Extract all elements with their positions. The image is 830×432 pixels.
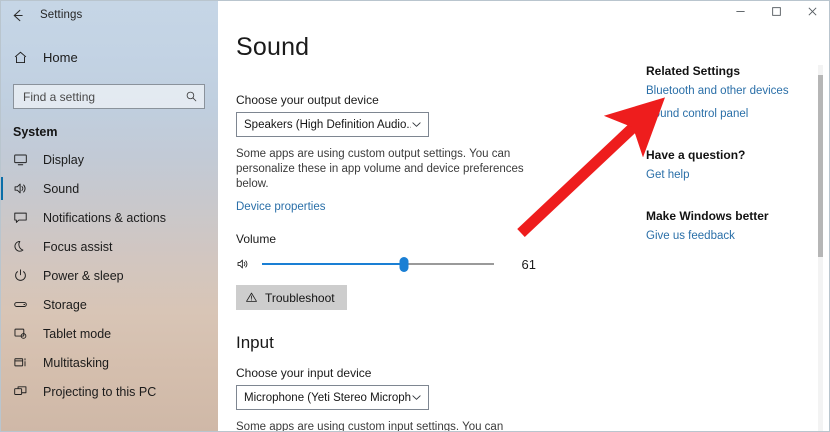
sidebar-item-label: Display [43,153,84,167]
volume-slider-row: 61 [236,256,536,272]
projecting-icon [13,384,35,399]
scrollbar-thumb[interactable] [818,75,823,257]
search-input[interactable] [23,90,185,104]
input-device-label: Choose your input device [236,366,566,380]
app-title: Settings [40,9,82,21]
sidebar-item-label: Sound [43,182,79,196]
power-icon [13,268,35,283]
sidebar-item-multitasking[interactable]: Multitasking [0,348,218,377]
output-device-value: Speakers (High Definition Audio... [244,119,411,131]
moon-icon [13,239,35,254]
sidebar-item-label: Notifications & actions [43,211,166,225]
settings-column: Choose your output device Speakers (High… [236,93,566,432]
monitor-icon [13,152,35,167]
warning-triangle-icon [245,291,258,304]
related-settings-panel: Related Settings Bluetooth and other dev… [646,64,821,253]
maximize-button[interactable] [758,0,794,22]
feedback-header: Make Windows better [646,209,821,223]
settings-window: Settings Home System [0,0,830,432]
sidebar: Settings Home System [0,0,218,432]
input-description: Some apps are using custom input setting… [236,420,536,432]
troubleshoot-label: Troubleshoot [265,291,335,305]
output-device-label: Choose your output device [236,93,566,107]
sidebar-nav-list: Display Sound Notifica [0,145,218,406]
device-properties-link[interactable]: Device properties [236,201,325,213]
sidebar-titlebar: Settings [0,0,218,30]
back-arrow-icon[interactable] [0,0,34,30]
chevron-down-icon [411,392,422,403]
volume-label: Volume [236,232,566,246]
input-device-value: Microphone (Yeti Stereo Microph... [244,392,411,404]
sidebar-home-label: Home [43,50,78,65]
troubleshoot-button[interactable]: Troubleshoot [236,285,347,310]
output-description: Some apps are using custom output settin… [236,147,536,192]
speaker-icon [13,181,35,196]
bluetooth-devices-link[interactable]: Bluetooth and other devices [646,85,821,97]
sidebar-item-tablet-mode[interactable]: Tablet mode [0,319,218,348]
sidebar-item-label: Focus assist [43,240,112,254]
sidebar-item-focus-assist[interactable]: Focus assist [0,232,218,261]
search-box[interactable] [13,84,205,109]
sidebar-item-home[interactable]: Home [0,42,218,72]
give-feedback-link[interactable]: Give us feedback [646,230,821,242]
multitasking-icon [13,355,35,370]
sidebar-item-power-sleep[interactable]: Power & sleep [0,261,218,290]
sound-control-panel-link[interactable]: Sound control panel [646,108,821,120]
sidebar-item-label: Storage [43,298,87,312]
sidebar-group-header: System [0,125,218,139]
notification-icon [13,210,35,225]
search-icon [185,90,198,103]
sidebar-item-label: Power & sleep [43,269,124,283]
input-section-heading: Input [236,333,566,353]
sidebar-item-display[interactable]: Display [0,145,218,174]
sidebar-item-notifications[interactable]: Notifications & actions [0,203,218,232]
get-help-link[interactable]: Get help [646,169,821,181]
slider-thumb[interactable] [399,257,408,272]
minimize-button[interactable] [722,0,758,22]
sidebar-item-storage[interactable]: Storage [0,290,218,319]
chevron-down-icon [411,119,422,130]
tablet-icon [13,326,35,341]
volume-slider[interactable] [262,256,494,272]
sidebar-item-sound[interactable]: Sound [0,174,218,203]
window-titlebar [222,0,830,31]
sidebar-item-label: Tablet mode [43,327,111,341]
main-pane: Sound Choose your output device Speakers… [222,0,830,432]
main-content: Sound Choose your output device Speakers… [222,31,830,432]
input-device-dropdown[interactable]: Microphone (Yeti Stereo Microph... [236,385,429,410]
home-icon [13,50,35,65]
speaker-volume-icon[interactable] [236,257,256,271]
output-device-dropdown[interactable]: Speakers (High Definition Audio... [236,112,429,137]
related-settings-header: Related Settings [646,64,821,78]
sidebar-item-label: Multitasking [43,356,109,370]
page-title: Sound [236,33,830,62]
slider-fill [262,263,404,265]
vertical-scrollbar[interactable] [818,65,823,432]
sidebar-item-projecting[interactable]: Projecting to this PC [0,377,218,406]
question-header: Have a question? [646,148,821,162]
volume-value: 61 [502,257,536,272]
close-button[interactable] [794,0,830,22]
sidebar-item-label: Projecting to this PC [43,385,156,399]
storage-icon [13,297,35,312]
